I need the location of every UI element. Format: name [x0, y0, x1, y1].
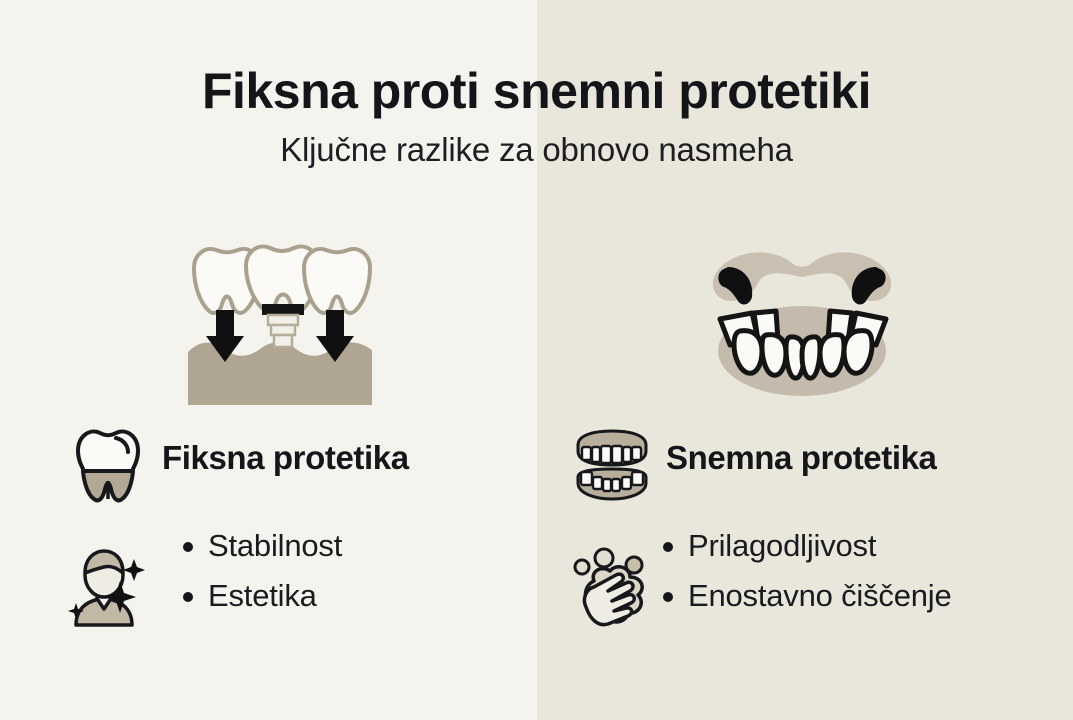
column-header-right: Snemna protetika	[568, 425, 1048, 505]
list-item: Enostavno čiščenje	[660, 571, 952, 621]
dental-bridge-implant-illustration	[180, 240, 380, 410]
infographic-poster: Fiksna proti snemni protetiki Ključne ra…	[0, 0, 1073, 720]
page-title: Fiksna proti snemni protetiki	[0, 0, 1073, 119]
page-subtitle: Ključne razlike za obnovo nasmeha	[0, 119, 1073, 169]
column-fiksna-protetika: Fiksna protetika Stabilnost	[62, 425, 532, 505]
column-title-right: Snemna protetika	[666, 439, 937, 477]
smiling-person-sparkles-icon	[66, 543, 150, 627]
column-header-left: Fiksna protetika	[62, 425, 532, 505]
dentures-icon	[572, 429, 652, 501]
column-snemna-protetika: Snemna protetika Prilagodljivost Enostav…	[568, 425, 1048, 505]
removable-denture-illustration	[700, 243, 904, 403]
washing-hands-icon	[568, 545, 658, 631]
column-title-left: Fiksna protetika	[162, 439, 409, 477]
list-item: Stabilnost	[180, 521, 342, 571]
list-item: Prilagodljivost	[660, 521, 952, 571]
tooth-icon	[70, 425, 146, 505]
bullet-list-left: Stabilnost Estetika	[180, 521, 342, 621]
list-item: Estetika	[180, 571, 342, 621]
header: Fiksna proti snemni protetiki Ključne ra…	[0, 0, 1073, 169]
bullet-list-right: Prilagodljivost Enostavno čiščenje	[660, 521, 952, 621]
